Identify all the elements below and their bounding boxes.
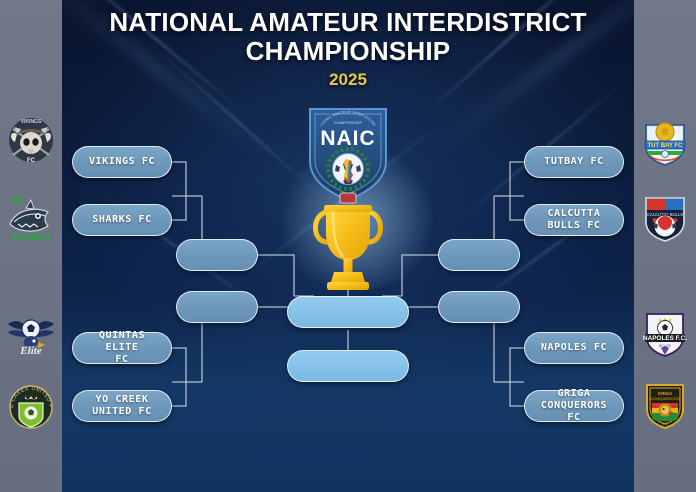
svg-text:PG: PG [11,195,24,205]
svg-text:NAPOLES F.C.: NAPOLES F.C. [643,335,687,342]
bracket-slot-final-2[interactable] [287,350,409,382]
header: NATIONAL AMATEUR INTERDISTRICT CHAMPIONS… [0,8,696,90]
team-name: SHARKS FC [86,214,158,226]
svg-text:FC: FC [662,421,667,426]
svg-text:CONQUERORS: CONQUERORS [650,396,679,401]
team-name: GRIGA CONQUERORS FC [525,388,623,423]
bracket-slot-final-1[interactable] [287,296,409,328]
svg-text:FC: FC [27,158,36,164]
crest-main-text: NAIC [320,127,375,150]
yo-creek-united-fc-logo: YO CREEK UNITED FC [4,378,58,432]
quintas-elite-fc-logo: Elite [4,306,58,360]
bracket-slot-right-sf-2[interactable] [438,291,520,323]
page-title: NATIONAL AMATEUR INTERDISTRICT CHAMPIONS… [0,8,696,66]
svg-text:VIKINGS: VIKINGS [21,119,42,125]
team-name: YO CREEK UNITED FC [86,394,158,418]
sharks-fc-logo: PG SHARKS [4,190,58,244]
bracket-slot-left-qf-1[interactable]: VIKINGS FC [72,146,172,178]
bracket-slot-left-qf-3[interactable]: QUINTAS ELITE FC [72,332,172,364]
bracket-slot-right-qf-2[interactable]: CALCUTTA BULLS FC [524,204,624,236]
vikings-fc-logo: VIKINGS FC [4,113,58,167]
bracket-slot-left-qf-2[interactable]: SHARKS FC [72,204,172,236]
championship-trophy [307,196,389,298]
bracket-slot-left-sf-2[interactable] [176,291,258,323]
team-name: TUTBAY FC [538,156,610,168]
calcutta-bulls-fc-logo: CALCUTTA BULLS [638,190,692,244]
team-name: NAPOLES FC [535,342,613,354]
naic-crest: NATIONAL AMATEUR INTER-DISTRICT CHAMPION… [302,101,394,205]
team-name: CALCUTTA BULLS FC [542,208,607,232]
tutbay-fc-logo: TUT BAY FC [638,113,692,167]
team-name: VIKINGS FC [83,156,161,168]
bracket-slot-right-qf-1[interactable]: TUTBAY FC [524,146,624,178]
napoles-fc-logo: NAPOLES F.C. BELIZE [638,306,692,360]
bracket-slot-right-sf-1[interactable] [438,239,520,271]
year-label: 2025 [0,70,696,90]
bracket-graphic: VIKINGS FC SHARKS FC QUINTAS ELITE FC YO… [0,0,696,492]
bracket-slot-right-qf-4[interactable]: GRIGA CONQUERORS FC [524,390,624,422]
griga-conquerors-fc-logo: GRIGA CONQUERORS FC [638,378,692,432]
svg-text:SHARKS: SHARKS [12,232,50,242]
bracket-slot-right-qf-3[interactable]: NAPOLES FC [524,332,624,364]
svg-text:TUT BAY FC: TUT BAY FC [647,143,683,149]
crest-arc-text-2: CHAMPIONSHIP [334,121,362,125]
bracket-slot-left-qf-4[interactable]: YO CREEK UNITED FC [72,390,172,422]
team-name: QUINTAS ELITE FC [73,330,171,365]
bracket-slot-left-sf-1[interactable] [176,239,258,271]
svg-text:Elite: Elite [19,345,42,357]
